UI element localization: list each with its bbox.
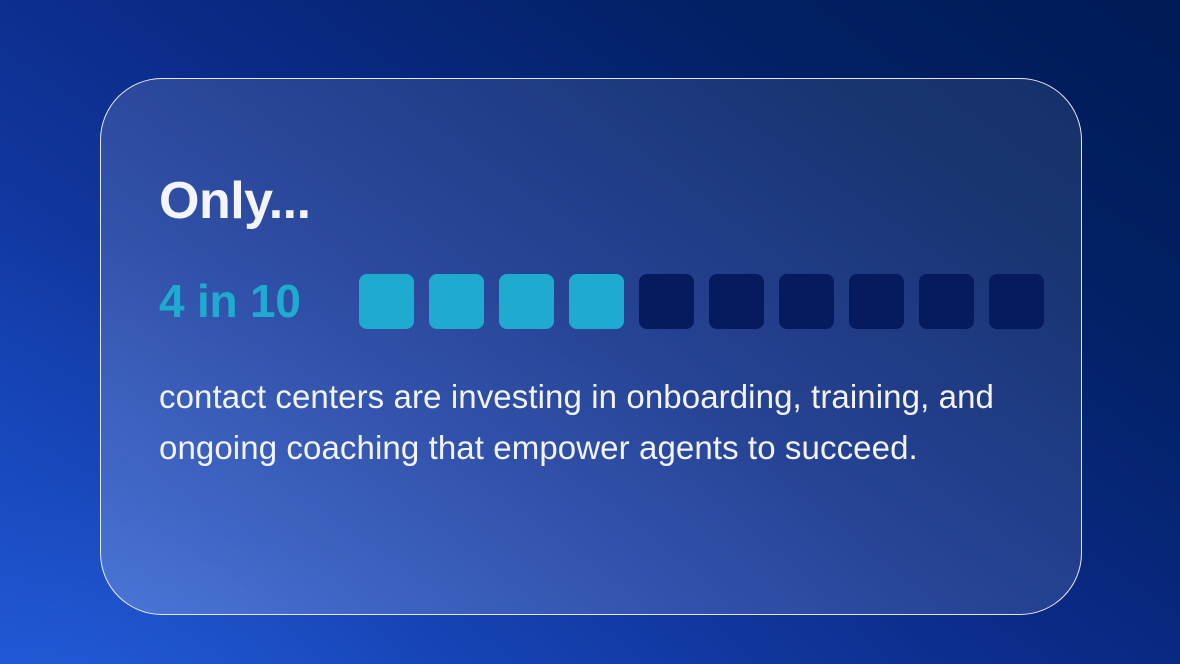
stat-block-filled-1 (359, 274, 414, 329)
stat-block-empty-7 (779, 274, 834, 329)
stat-card: Only... 4 in 10 contact centers are inv (100, 78, 1082, 615)
stat-block-empty-5 (639, 274, 694, 329)
stat-block-filled-3 (499, 274, 554, 329)
stat-block-empty-10 (989, 274, 1044, 329)
stat-block-filled-2 (429, 274, 484, 329)
stat-block-empty-8 (849, 274, 904, 329)
card-content: Only... 4 in 10 contact centers are inv (159, 175, 1035, 474)
stat-block-empty-6 (709, 274, 764, 329)
stat-block-chart (359, 274, 1044, 329)
stat-figure-label: 4 in 10 (159, 278, 359, 324)
card-eyebrow-heading: Only... (159, 175, 1035, 227)
card-body-text: contact centers are investing in onboard… (159, 371, 1035, 474)
stat-block-empty-9 (919, 274, 974, 329)
slide-canvas: Only... 4 in 10 contact centers are inv (0, 0, 1180, 664)
stat-row: 4 in 10 (159, 273, 1035, 329)
stat-block-filled-4 (569, 274, 624, 329)
